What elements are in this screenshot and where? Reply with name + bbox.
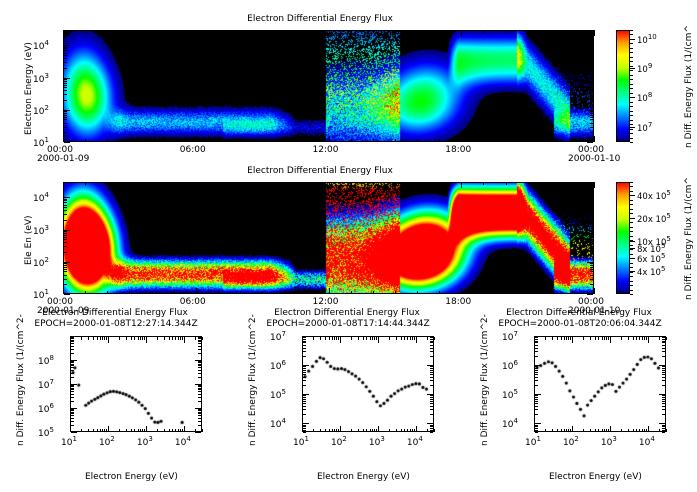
ytick-minor — [662, 370, 665, 371]
ytick-minor — [535, 342, 538, 343]
ytick-minor — [535, 380, 538, 381]
colorbar-minor-tick — [630, 88, 633, 89]
ytick-minor — [198, 425, 201, 426]
xtick-minor — [412, 429, 413, 432]
xtick-minor — [172, 337, 173, 340]
colorbar-minor-tick — [630, 182, 633, 183]
xtick-minor — [414, 429, 415, 432]
ytick-minor — [590, 233, 593, 234]
ytick-minor — [590, 279, 593, 280]
ytick-minor — [303, 356, 306, 357]
xtick-minor — [195, 429, 196, 432]
colorbar-minor-tick — [630, 79, 633, 80]
xtick-label: 103 — [369, 435, 385, 448]
ytick-minor — [198, 385, 201, 386]
ytick-minor — [590, 123, 593, 124]
colorbar-minor-tick — [630, 48, 633, 49]
ytick-minor — [535, 348, 538, 349]
xtick-minor — [414, 337, 415, 340]
ytick-minor — [430, 345, 433, 346]
xtick-minor — [164, 429, 165, 432]
colorbar-minor-tick — [630, 218, 633, 219]
xtick-mark — [329, 30, 330, 36]
ytick-minor — [662, 426, 665, 427]
middle-colorbar-frame — [616, 182, 630, 294]
xtick-minor — [332, 337, 333, 340]
xtick-minor — [639, 337, 640, 340]
spectrum-middle-axes-frame — [302, 336, 434, 432]
xtick-mark — [378, 426, 379, 432]
colorbar-minor-tick — [630, 281, 633, 282]
ytick-minor — [71, 415, 74, 416]
xtick-minor — [373, 139, 374, 142]
xtick-mark — [196, 136, 197, 142]
ytick-minor — [430, 414, 433, 415]
xtick-minor — [336, 337, 337, 340]
ytick-minor — [662, 339, 665, 340]
ytick-minor — [198, 394, 201, 395]
ytick-minor — [71, 389, 74, 390]
xtick-minor — [351, 30, 352, 33]
xtick-minor — [389, 429, 390, 432]
ytick-minor — [198, 377, 201, 378]
xtick-minor — [152, 291, 153, 294]
ytick-minor — [71, 353, 74, 354]
ytick-minor — [430, 409, 433, 410]
ytick-minor — [590, 81, 593, 82]
ytick-minor — [71, 388, 74, 389]
ytick-minor — [64, 235, 67, 236]
ytick-minor — [590, 48, 593, 49]
ytick-minor — [71, 340, 74, 341]
xtick-minor — [284, 30, 285, 33]
ytick-minor — [64, 233, 67, 234]
ytick-minor — [662, 348, 665, 349]
ytick-minor — [303, 348, 306, 349]
ytick-minor — [198, 337, 201, 338]
colorbar-minor-tick — [630, 191, 633, 192]
colorbar-minor-tick — [630, 272, 633, 273]
ytick-minor — [662, 425, 665, 426]
top-spectrogram-title: Electron Differential Energy Flux — [170, 14, 470, 24]
xtick-minor — [659, 337, 660, 340]
xtick-minor — [174, 182, 175, 185]
ytick-label: 102 — [33, 256, 49, 269]
ytick-minor — [662, 403, 665, 404]
ytick-label: 103 — [33, 224, 49, 237]
ytick-minor — [662, 406, 665, 407]
xtick-minor — [202, 429, 203, 432]
xtick-mark — [184, 426, 185, 432]
colorbar-tick-label: 4x 105 — [637, 265, 665, 278]
ytick-minor — [64, 205, 67, 206]
ytick-minor — [198, 353, 201, 354]
ytick-mark — [587, 142, 593, 143]
xtick-minor — [561, 337, 562, 340]
xtick-minor — [528, 139, 529, 142]
colorbar-minor-tick — [630, 254, 633, 255]
ytick-minor — [198, 421, 201, 422]
ytick-minor — [198, 343, 201, 344]
xtick-minor — [169, 429, 170, 432]
xtick-mark — [302, 426, 303, 432]
xtick-minor — [262, 291, 263, 294]
colorbar-minor-tick — [630, 142, 633, 143]
xtick-minor — [396, 429, 397, 432]
colorbar-minor-tick — [630, 195, 633, 196]
ytick-label: 104 — [270, 417, 286, 430]
colorbar-minor-tick — [630, 120, 633, 121]
colorbar-minor-tick — [630, 290, 633, 291]
xtick-minor — [434, 337, 435, 340]
ytick-minor — [198, 415, 201, 416]
xtick-label: 104 — [175, 435, 191, 448]
xtick-minor — [427, 337, 428, 340]
xtick-minor — [129, 182, 130, 185]
ytick-minor — [64, 237, 67, 238]
xtick-minor — [506, 30, 507, 33]
colorbar-minor-tick — [630, 240, 633, 241]
xtick-minor — [332, 429, 333, 432]
ytick-minor — [198, 340, 201, 341]
ytick-minor — [590, 115, 593, 116]
colorbar-minor-tick — [630, 75, 633, 76]
ytick-minor — [662, 356, 665, 357]
ytick-minor — [64, 207, 67, 208]
xtick-minor — [590, 429, 591, 432]
ytick-minor — [535, 385, 538, 386]
xtick-mark — [648, 337, 649, 343]
ytick-minor — [64, 111, 67, 112]
colorbar-minor-tick — [630, 213, 633, 214]
colorbar-minor-tick — [630, 106, 633, 107]
xtick-minor — [129, 30, 130, 33]
xtick-minor — [97, 429, 98, 432]
xtick-mark — [196, 182, 197, 188]
xtick-minor — [566, 429, 567, 432]
xtick-minor — [306, 30, 307, 33]
xtick-minor — [351, 139, 352, 142]
ytick-minor — [303, 395, 306, 396]
xtick-minor — [85, 182, 86, 185]
ytick-minor — [662, 380, 665, 381]
ytick-minor — [303, 401, 306, 402]
top-spectrogram-panel: Electron Differential Energy Flux Electr… — [0, 0, 697, 175]
colorbar-minor-tick — [630, 30, 633, 31]
ytick-minor — [590, 242, 593, 243]
xtick-minor — [439, 182, 440, 185]
xtick-minor — [401, 337, 402, 340]
ytick-minor — [430, 399, 433, 400]
ytick-minor — [71, 349, 74, 350]
ytick-minor — [662, 345, 665, 346]
xtick-minor — [439, 291, 440, 294]
xtick-minor — [372, 337, 373, 340]
xtick-minor — [174, 139, 175, 142]
xtick-label: 18:00 — [445, 145, 471, 155]
ytick-minor — [303, 414, 306, 415]
xtick-mark — [461, 136, 462, 142]
xtick-minor — [659, 429, 660, 432]
ytick-minor — [535, 341, 538, 342]
xtick-minor — [131, 337, 132, 340]
ytick-minor — [590, 50, 593, 51]
ytick-minor — [64, 279, 67, 280]
spectrum-right-ylabel: n Diff. Energy Flux (1/(cm^2- — [480, 314, 490, 446]
ytick-minor — [64, 200, 67, 201]
ytick-minor — [662, 397, 665, 398]
ytick-minor — [71, 377, 74, 378]
xtick-minor — [568, 337, 569, 340]
ytick-minor — [535, 368, 538, 369]
ytick-minor — [71, 401, 74, 402]
colorbar-minor-tick — [630, 222, 633, 223]
xtick-minor — [175, 429, 176, 432]
ytick-minor — [662, 428, 665, 429]
spectrum-left-subtitle: EPOCH=2000-01-08T12:27:14.344Z — [6, 319, 226, 329]
colorbar-minor-tick — [630, 249, 633, 250]
ytick-minor — [430, 380, 433, 381]
xtick-minor — [138, 337, 139, 340]
ytick-minor — [71, 367, 74, 368]
ytick-minor — [64, 263, 67, 264]
ytick-minor — [535, 351, 538, 352]
ytick-minor — [662, 366, 665, 367]
xtick-mark — [594, 136, 595, 142]
colorbar-minor-tick — [630, 204, 633, 205]
xtick-mark — [572, 337, 573, 343]
ytick-minor — [430, 426, 433, 427]
ytick-minor — [71, 364, 74, 365]
xtick-minor — [550, 182, 551, 185]
ytick-label: 104 — [33, 191, 49, 204]
xtick-minor — [633, 337, 634, 340]
ytick-minor — [430, 401, 433, 402]
ytick-minor — [662, 342, 665, 343]
ytick-minor — [64, 252, 67, 253]
ytick-label: 104 — [502, 417, 518, 430]
xtick-minor — [528, 182, 529, 185]
xtick-mark — [594, 30, 595, 36]
ytick-minor — [71, 412, 74, 413]
xtick-mark — [340, 337, 341, 343]
xtick-label: 103 — [137, 435, 153, 448]
xtick-minor — [606, 429, 607, 432]
ytick-minor — [590, 47, 593, 48]
ytick-minor — [64, 269, 67, 270]
xtick-minor — [598, 429, 599, 432]
xtick-minor — [334, 429, 335, 432]
xtick-minor — [417, 182, 418, 185]
xtick-minor — [140, 337, 141, 340]
xtick-minor — [129, 291, 130, 294]
xtick-minor — [642, 429, 643, 432]
ytick-minor — [590, 90, 593, 91]
xtick-minor — [119, 429, 120, 432]
xtick-minor — [102, 337, 103, 340]
xtick-minor — [395, 291, 396, 294]
ytick-minor — [662, 377, 665, 378]
xtick-minor — [329, 337, 330, 340]
ytick-minor — [535, 356, 538, 357]
xtick-minor — [628, 337, 629, 340]
xtick-minor — [218, 291, 219, 294]
xtick-minor — [621, 337, 622, 340]
colorbar-minor-tick — [630, 133, 633, 134]
ytick-minor — [535, 430, 538, 431]
xtick-minor — [395, 30, 396, 33]
colorbar-minor-tick — [630, 52, 633, 53]
ytick-minor — [430, 351, 433, 352]
xtick-minor — [142, 337, 143, 340]
xtick-minor — [164, 337, 165, 340]
ytick-minor — [71, 373, 74, 374]
ytick-minor — [64, 90, 67, 91]
xtick-minor — [646, 429, 647, 432]
ytick-minor — [64, 53, 67, 54]
ytick-minor — [64, 87, 67, 88]
ytick-minor — [662, 372, 665, 373]
xtick-minor — [182, 337, 183, 340]
ytick-mark — [71, 432, 77, 433]
ytick-minor — [64, 48, 67, 49]
xtick-minor — [374, 429, 375, 432]
xtick-minor — [240, 291, 241, 294]
xtick-minor — [564, 429, 565, 432]
ytick-minor — [430, 430, 433, 431]
ytick-minor — [662, 430, 665, 431]
ytick-minor — [590, 275, 593, 276]
colorbar-minor-tick — [630, 39, 633, 40]
xtick-minor — [404, 429, 405, 432]
xtick-minor — [218, 139, 219, 142]
ytick-minor — [64, 47, 67, 48]
ytick-minor — [590, 94, 593, 95]
ytick-minor — [303, 368, 306, 369]
ytick-minor — [590, 267, 593, 268]
ytick-minor — [64, 275, 67, 276]
xtick-minor — [410, 429, 411, 432]
ytick-minor — [590, 246, 593, 247]
xtick-minor — [144, 337, 145, 340]
colorbar-minor-tick — [630, 231, 633, 232]
xtick-label: 103 — [601, 435, 617, 448]
ytick-minor — [535, 377, 538, 378]
xtick-minor — [358, 337, 359, 340]
ytick-minor — [64, 62, 67, 63]
top-spectrogram-axes-frame — [63, 30, 594, 142]
ytick-minor — [71, 413, 74, 414]
ytick-minor — [64, 284, 67, 285]
ytick-minor — [430, 395, 433, 396]
ytick-minor — [662, 409, 665, 410]
xtick-mark — [63, 288, 64, 294]
ytick-minor — [590, 239, 593, 240]
xtick-minor — [104, 337, 105, 340]
ytick-minor — [590, 132, 593, 133]
xtick-minor — [138, 429, 139, 432]
xtick-minor — [608, 429, 609, 432]
xtick-label: 102 — [331, 435, 347, 448]
colorbar-minor-tick — [630, 263, 633, 264]
ytick-minor — [430, 428, 433, 429]
ytick-minor — [198, 397, 201, 398]
xtick-minor — [313, 429, 314, 432]
middle-spectrogram-panel: Electron Differential Energy Flux Ele En… — [0, 160, 697, 320]
ytick-minor — [590, 263, 593, 264]
ytick-minor — [198, 365, 201, 366]
colorbar-tick-label: 10x 105 — [637, 235, 671, 248]
colorbar-minor-tick — [630, 102, 633, 103]
xtick-minor — [85, 139, 86, 142]
top-colorbar-label: n Diff. Energy Flux (1/(cm^ — [684, 25, 694, 148]
xtick-minor — [325, 337, 326, 340]
xtick-minor — [107, 139, 108, 142]
ytick-minor — [430, 377, 433, 378]
ytick-minor — [535, 426, 538, 427]
xtick-minor — [401, 429, 402, 432]
ytick-minor — [198, 364, 201, 365]
ytick-minor — [198, 338, 201, 339]
ytick-minor — [430, 385, 433, 386]
ytick-label: 104 — [33, 39, 49, 52]
ytick-minor — [71, 394, 74, 395]
ytick-minor — [590, 62, 593, 63]
ytick-minor — [198, 409, 201, 410]
ytick-minor — [662, 341, 665, 342]
xtick-minor — [374, 337, 375, 340]
ytick-minor — [535, 432, 538, 433]
xtick-minor — [366, 337, 367, 340]
xtick-minor — [336, 429, 337, 432]
colorbar-minor-tick — [630, 227, 633, 228]
ytick-minor — [590, 68, 593, 69]
xtick-minor — [358, 429, 359, 432]
ytick-minor — [71, 341, 74, 342]
xtick-minor — [376, 337, 377, 340]
ytick-minor — [303, 374, 306, 375]
xtick-minor — [100, 337, 101, 340]
spectrum-left-axes-frame — [70, 336, 202, 432]
spectrum-right-xlabel: Electron Energy (eV) — [549, 472, 642, 482]
xtick-minor — [602, 429, 603, 432]
ytick-minor — [430, 342, 433, 343]
ytick-minor — [430, 432, 433, 433]
xtick-minor — [557, 429, 558, 432]
xtick-mark — [378, 337, 379, 343]
xtick-minor — [313, 337, 314, 340]
xtick-mark — [610, 426, 611, 432]
ytick-minor — [590, 210, 593, 211]
colorbar-minor-tick — [630, 111, 633, 112]
ytick-minor — [198, 341, 201, 342]
ytick-minor — [535, 428, 538, 429]
ytick-minor — [303, 370, 306, 371]
xtick-mark — [63, 182, 64, 188]
xtick-minor — [351, 429, 352, 432]
colorbar-minor-tick — [630, 70, 633, 71]
spectrum-left-title: Electron Differential Energy Flux — [10, 308, 220, 318]
ytick-minor — [198, 412, 201, 413]
xtick-mark — [108, 337, 109, 343]
colorbar-minor-tick — [630, 236, 633, 237]
ytick-minor — [430, 368, 433, 369]
xtick-minor — [152, 182, 153, 185]
colorbar-tick-label: 1010 — [637, 33, 657, 46]
ytick-minor — [303, 409, 306, 410]
xtick-minor — [351, 337, 352, 340]
ytick-minor — [590, 111, 593, 112]
